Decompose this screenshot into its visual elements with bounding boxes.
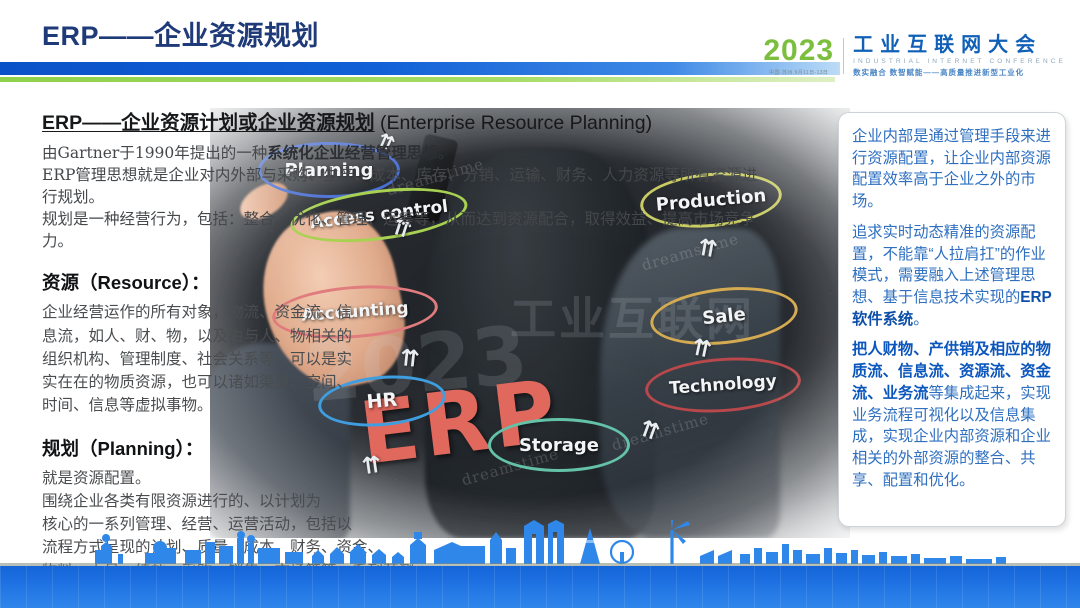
resource-line-3: 组织机构、管理制度、社会关系等。可以是实	[42, 348, 772, 371]
logo-year-subtitle: 中国·苏州 9月11日-13日	[769, 69, 828, 76]
callout-p3-lead: 把	[852, 341, 867, 358]
intro-paragraph: 由Gartner于1990年提出的一种系统化企业经营管理思想。 ERP管理思想就…	[42, 142, 772, 252]
callout-paragraph-3: 把人财物、产供销及相应的物质流、信息流、资源流、资金流、业务流等集成起来，实现业…	[852, 339, 1053, 491]
intro-line-1a: 由Gartner于1990年提出的一种	[42, 144, 267, 162]
section-subtitle-en: (Enterprise Resource Planning)	[375, 112, 652, 134]
logo-year-block: 2023 中国·苏州 9月11日-13日	[763, 36, 834, 76]
city-skyline-graphic	[0, 520, 1080, 566]
section-heading-planning: 规划（Planning）：	[42, 435, 772, 461]
logo-tagline: 数实融合 数智赋能——高质量推进新型工业化	[853, 67, 1066, 78]
logo-title-cn: 工业互联网大会	[853, 34, 1066, 56]
logo-text-block: 工业互联网大会 INDUSTRIAL INTERNET CONFERENCE 数…	[853, 34, 1066, 78]
resource-line-2: 息流，如人、财、物，以及由与人、物相关的	[42, 325, 772, 348]
resource-line-4: 实在在的物质资源，也可以诸如渠道、空间、	[42, 371, 772, 394]
intro-line-1b: 系统化企业经营管理思想。	[267, 143, 453, 162]
callout-paragraph-1: 企业内部是通过管理手段来进行资源配置，让企业内部资源配置效率高于企业之外的市场。	[852, 126, 1053, 213]
planning-line-2: 围绕企业各类有限资源进行的、以计划为	[42, 490, 772, 513]
section-heading-resource: 资源（Resource）：	[42, 269, 772, 295]
intro-line-1: 由Gartner于1990年提出的一种系统化企业经营管理思想。	[42, 142, 772, 164]
logo-divider	[843, 38, 844, 74]
intro-line-2: ERP管理思想就是企业对内外部与采购、生产、成本、库存、分销、运输、财务、人力资…	[42, 164, 772, 208]
slide: ERP——企业资源规划 2023 中国·苏州 9月11日-13日 工业互联网大会…	[0, 0, 1080, 608]
callout-box: 企业内部是通过管理手段来进行资源配置，让企业内部资源配置效率高于企业之外的市场。…	[838, 112, 1066, 527]
logo-title-en: INDUSTRIAL INTERNET CONFERENCE	[853, 58, 1066, 65]
resource-line-5: 时间、信息等虚拟事物。	[42, 394, 772, 417]
planning-line-1: 就是资源配置。	[42, 467, 772, 490]
callout-paragraph-2: 追求实时动态精准的资源配置，不能靠“人拉肩扛”的作业模式，需要融入上述管理思想、…	[852, 222, 1053, 331]
resource-line-1: 企业经营运作的所有对象，物流、资金流、信	[42, 301, 772, 324]
conference-logo: 2023 中国·苏州 9月11日-13日 工业互联网大会 INDUSTRIAL …	[763, 34, 1066, 78]
callout-p2-tail: 。	[913, 311, 928, 328]
section-subtitle: ERP——企业资源计划或企业资源规划 (Enterprise Resource …	[42, 112, 772, 135]
header-green-rule	[0, 77, 835, 82]
logo-year: 2023	[763, 36, 834, 66]
callout-p2-text: 追求实时动态精准的资源配置，不能靠“人拉肩扛”的作业模式，需要融入上述管理思想、…	[852, 224, 1046, 306]
page-title: ERP——企业资源规划	[42, 14, 319, 53]
section-subtitle-cn: ERP——企业资源计划或企业资源规划	[42, 112, 375, 134]
header-blue-rule	[0, 62, 840, 75]
intro-line-3: 规划是一种经营行为，包括：整合、优化、管理、运筹等，从而达到资源配合，取得效益、…	[42, 208, 772, 252]
section-body-resource: 企业经营运作的所有对象，物流、资金流、信 息流，如人、财、物，以及由与人、物相关…	[42, 301, 772, 417]
footer-band	[0, 566, 1080, 608]
